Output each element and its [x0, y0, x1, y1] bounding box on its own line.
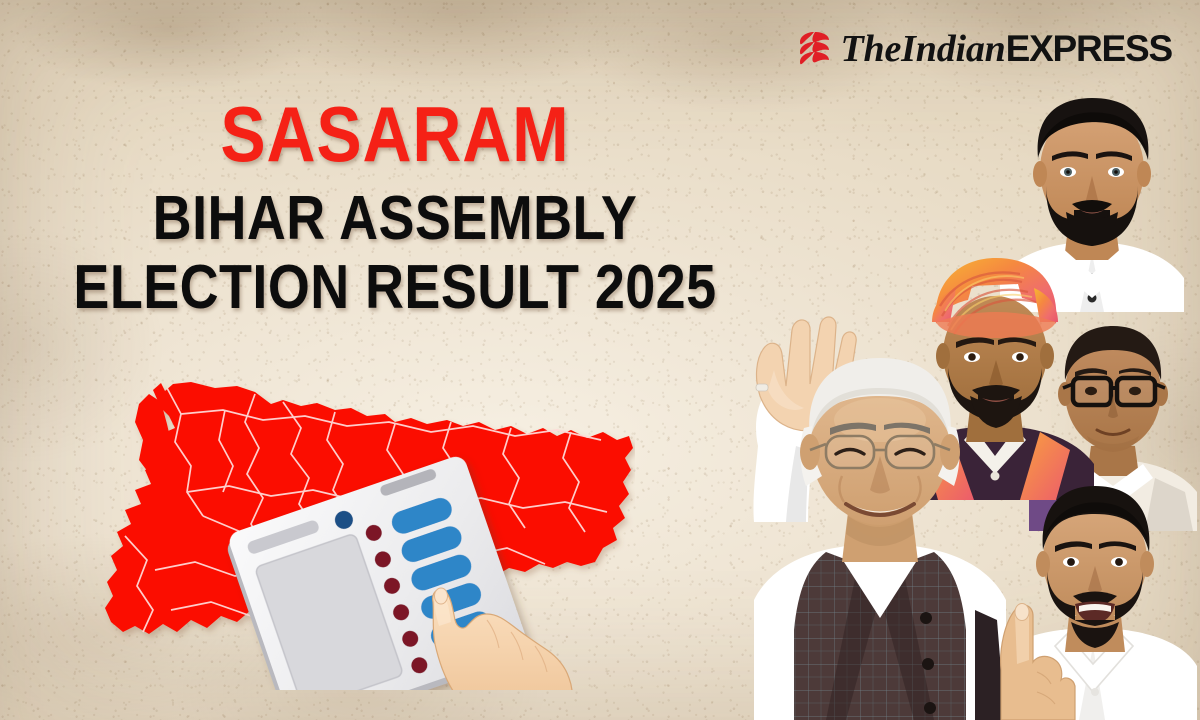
logo-wordmark: TheIndianEXPRESS [841, 30, 1172, 68]
logo-word-express: EXPRESS [1006, 28, 1172, 69]
indian-express-flame-icon [798, 30, 832, 68]
publication-logo[interactable]: TheIndianEXPRESS [798, 30, 1172, 68]
constituency-name: SASARAM [51, 96, 738, 172]
portrait-tejashwi-yadav [975, 470, 1200, 720]
election-result-graphic: SASARAM BIHAR ASSEMBLY ELECTION RESULT 2… [0, 0, 1200, 720]
logo-word-indian: Indian [901, 28, 1005, 70]
headline-line-2: BIHAR ASSEMBLY [51, 186, 738, 252]
logo-word-the: The [841, 28, 902, 70]
headline-block: SASARAM BIHAR ASSEMBLY ELECTION RESULT 2… [0, 96, 790, 321]
evm-ballot-unit-icon [95, 370, 635, 690]
politician-portrait-cluster [730, 0, 1200, 720]
headline-line-3: ELECTION RESULT 2025 [51, 255, 738, 321]
bihar-map-graphic [95, 370, 635, 690]
